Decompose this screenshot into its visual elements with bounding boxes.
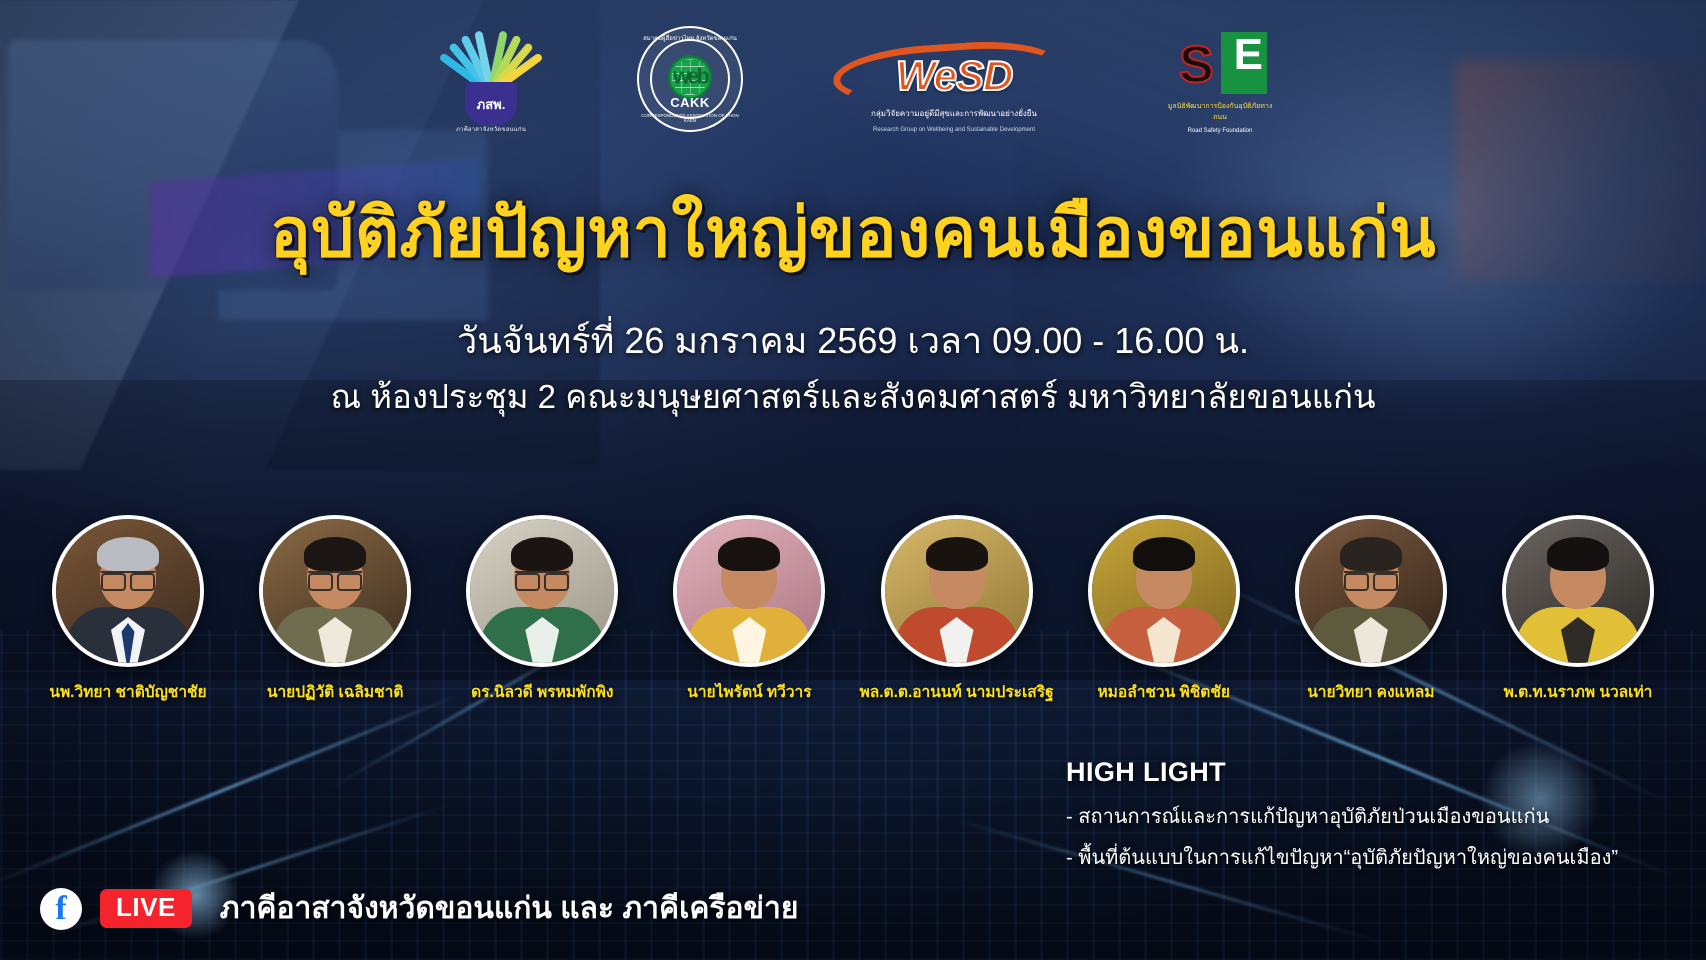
rsf-s-letter: S bbox=[1179, 42, 1214, 89]
glasses-icon bbox=[515, 571, 569, 586]
speaker-name: พล.ต.ต.อานนท์ นามประเสริฐ bbox=[859, 679, 1053, 704]
pasap-caption: ภาคีอาสาจังหวัดขอนแก่น bbox=[456, 124, 526, 134]
speaker-name: นพ.วิทยา ชาติบัญชาชัย bbox=[49, 679, 206, 704]
avatar bbox=[1502, 515, 1654, 667]
speaker-card: พล.ต.ต.อานนท์ นามประเสริฐ bbox=[859, 515, 1055, 704]
avatar bbox=[259, 515, 411, 667]
highlight-bullet: - สถานการณ์และการแก้ปัญหาอุบัติภัยป่วนเม… bbox=[1066, 800, 1618, 832]
pasap-shield: ภสพ. bbox=[465, 82, 517, 126]
avatar bbox=[881, 515, 1033, 667]
pasap-logo: ภสพ. ภาคีอาสาจังหวัดขอนแก่น bbox=[431, 26, 551, 136]
live-badge: LIVE bbox=[100, 889, 192, 928]
speaker-name: ดร.นิลวดี พรหมพักพิง bbox=[471, 679, 613, 704]
speaker-card: นพ.วิทยา ชาติบัญชาชัย bbox=[30, 515, 226, 704]
pasap-abbr: ภสพ. bbox=[477, 94, 506, 115]
wesd-english-caption: Research Group on Wellbeing and Sustaina… bbox=[829, 127, 1079, 133]
wesd-thai-caption: กลุ่มวิจัยความอยู่ดีมีสุขและการพัฒนาอย่า… bbox=[829, 107, 1079, 120]
footer-organizer-text: ภาคีอาสาจังหวัดขอนแก่น และ ภาคีเครือข่าย bbox=[220, 885, 799, 932]
highlight-section: HIGH LIGHT - สถานการณ์และการแก้ปัญหาอุบั… bbox=[1066, 757, 1618, 882]
wesd-word: WeSD bbox=[896, 52, 1013, 100]
glasses-icon bbox=[101, 571, 155, 586]
highlight-title: HIGH LIGHT bbox=[1066, 757, 1618, 788]
speaker-name: นายวิทยา คงแหลม bbox=[1307, 679, 1434, 704]
cakk-top-text: สมาคมผู้สื่อข่าวไทย จังหวัดขอนแก่น bbox=[637, 33, 743, 43]
event-venue: ณ ห้องประชุม 2 คณะมนุษยศาสตร์และสังคมศาส… bbox=[0, 370, 1706, 423]
logo-row: ภสพ. ภาคีอาสาจังหวัดขอนแก่น สมาคมผู้สื่อ… bbox=[0, 26, 1706, 138]
speaker-list: นพ.วิทยา ชาติบัญชาชัย นายปฏิวัติ เฉลิมชา… bbox=[30, 515, 1676, 704]
speaker-name: นายปฏิวัติ เฉลิมชาติ bbox=[267, 679, 404, 704]
glasses-icon bbox=[1344, 571, 1398, 586]
cakk-logo: สมาคมผู้สื่อข่าวไทย จังหวัดขอนแก่น web C… bbox=[637, 26, 743, 132]
speaker-card: พ.ต.ท.นราภพ นวลเท่า bbox=[1480, 515, 1676, 704]
cakk-word: CAKK bbox=[637, 95, 743, 110]
speaker-name: นายไพรัตน์ ทวีวาร bbox=[687, 679, 811, 704]
event-date-time: วันจันทร์ที่ 26 มกราคม 2569 เวลา 09.00 -… bbox=[0, 312, 1706, 369]
avatar bbox=[1295, 515, 1447, 667]
speaker-card: ดร.นิลวดี พรหมพักพิง bbox=[444, 515, 640, 704]
event-poster: ภสพ. ภาคีอาสาจังหวัดขอนแก่น สมาคมผู้สื่อ… bbox=[0, 0, 1706, 960]
rsf-english-caption: Road Safety Foundation bbox=[1165, 128, 1275, 134]
page-title: อุบัติภัยปัญหาใหญ่ของคนเมืองขอนแก่น bbox=[0, 178, 1706, 286]
rsf-e-letter: E bbox=[1234, 34, 1263, 76]
cakk-bottom-text: CORRESPONDENTS ASSOCIATION OF KHON KAEN bbox=[637, 113, 743, 123]
speaker-card: นายปฏิวัติ เฉลิมชาติ bbox=[237, 515, 433, 704]
avatar bbox=[1088, 515, 1240, 667]
rsf-thai-caption: มูลนิธิพัฒนาการป้องกันอุบัติภัยทางถนน bbox=[1165, 101, 1275, 123]
speaker-card: หมอลำชวน พิชิตชัย bbox=[1066, 515, 1262, 704]
avatar bbox=[466, 515, 618, 667]
speaker-card: นายไพรัตน์ ทวีวาร bbox=[651, 515, 847, 704]
glasses-icon bbox=[308, 571, 362, 586]
speaker-name: หมอลำชวน พิชิตชัย bbox=[1097, 679, 1229, 704]
highlight-bullet: - พื้นที่ต้นแบบในการแก้ไขปัญหา“อุบัติภัย… bbox=[1066, 841, 1618, 873]
avatar bbox=[673, 515, 825, 667]
speaker-name: พ.ต.ท.นราภพ นวลเท่า bbox=[1504, 679, 1653, 704]
facebook-icon[interactable]: f bbox=[40, 888, 82, 930]
wesd-logo: WeSD กลุ่มวิจัยความอยู่ดีมีสุขและการพัฒน… bbox=[829, 26, 1079, 138]
people-icon: web bbox=[673, 63, 707, 89]
footer-bar: f LIVE ภาคีอาสาจังหวัดขอนแก่น และ ภาคีเค… bbox=[40, 885, 798, 932]
road-safety-foundation-logo: E S มูลนิธิพัฒนาการป้องกันอุบัติภัยทางถน… bbox=[1165, 26, 1275, 138]
speaker-card: นายวิทยา คงแหลม bbox=[1273, 515, 1469, 704]
avatar bbox=[52, 515, 204, 667]
